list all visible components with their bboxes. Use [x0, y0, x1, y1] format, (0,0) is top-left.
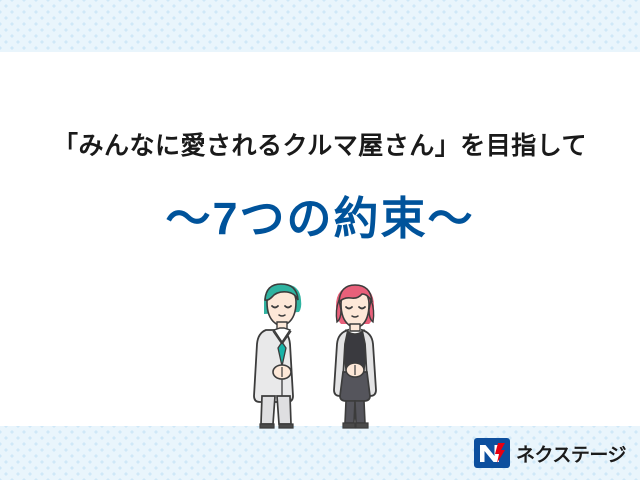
page-title: 「みんなに愛されるクルマ屋さん」を目指して — [0, 126, 640, 162]
page-subtitle: 〜7つの約束〜 — [0, 182, 640, 247]
nextage-n-mark-icon — [474, 438, 510, 468]
female-staff-figure — [334, 285, 376, 428]
slide-root: 「みんなに愛されるクルマ屋さん」を目指して 〜7つの約束〜 — [0, 0, 640, 480]
male-staff-figure — [254, 284, 301, 428]
two-staff-bowing-illustration — [236, 272, 411, 430]
brand-name: ネクステージ — [516, 440, 626, 467]
brand-logo: ネクステージ — [474, 438, 626, 468]
